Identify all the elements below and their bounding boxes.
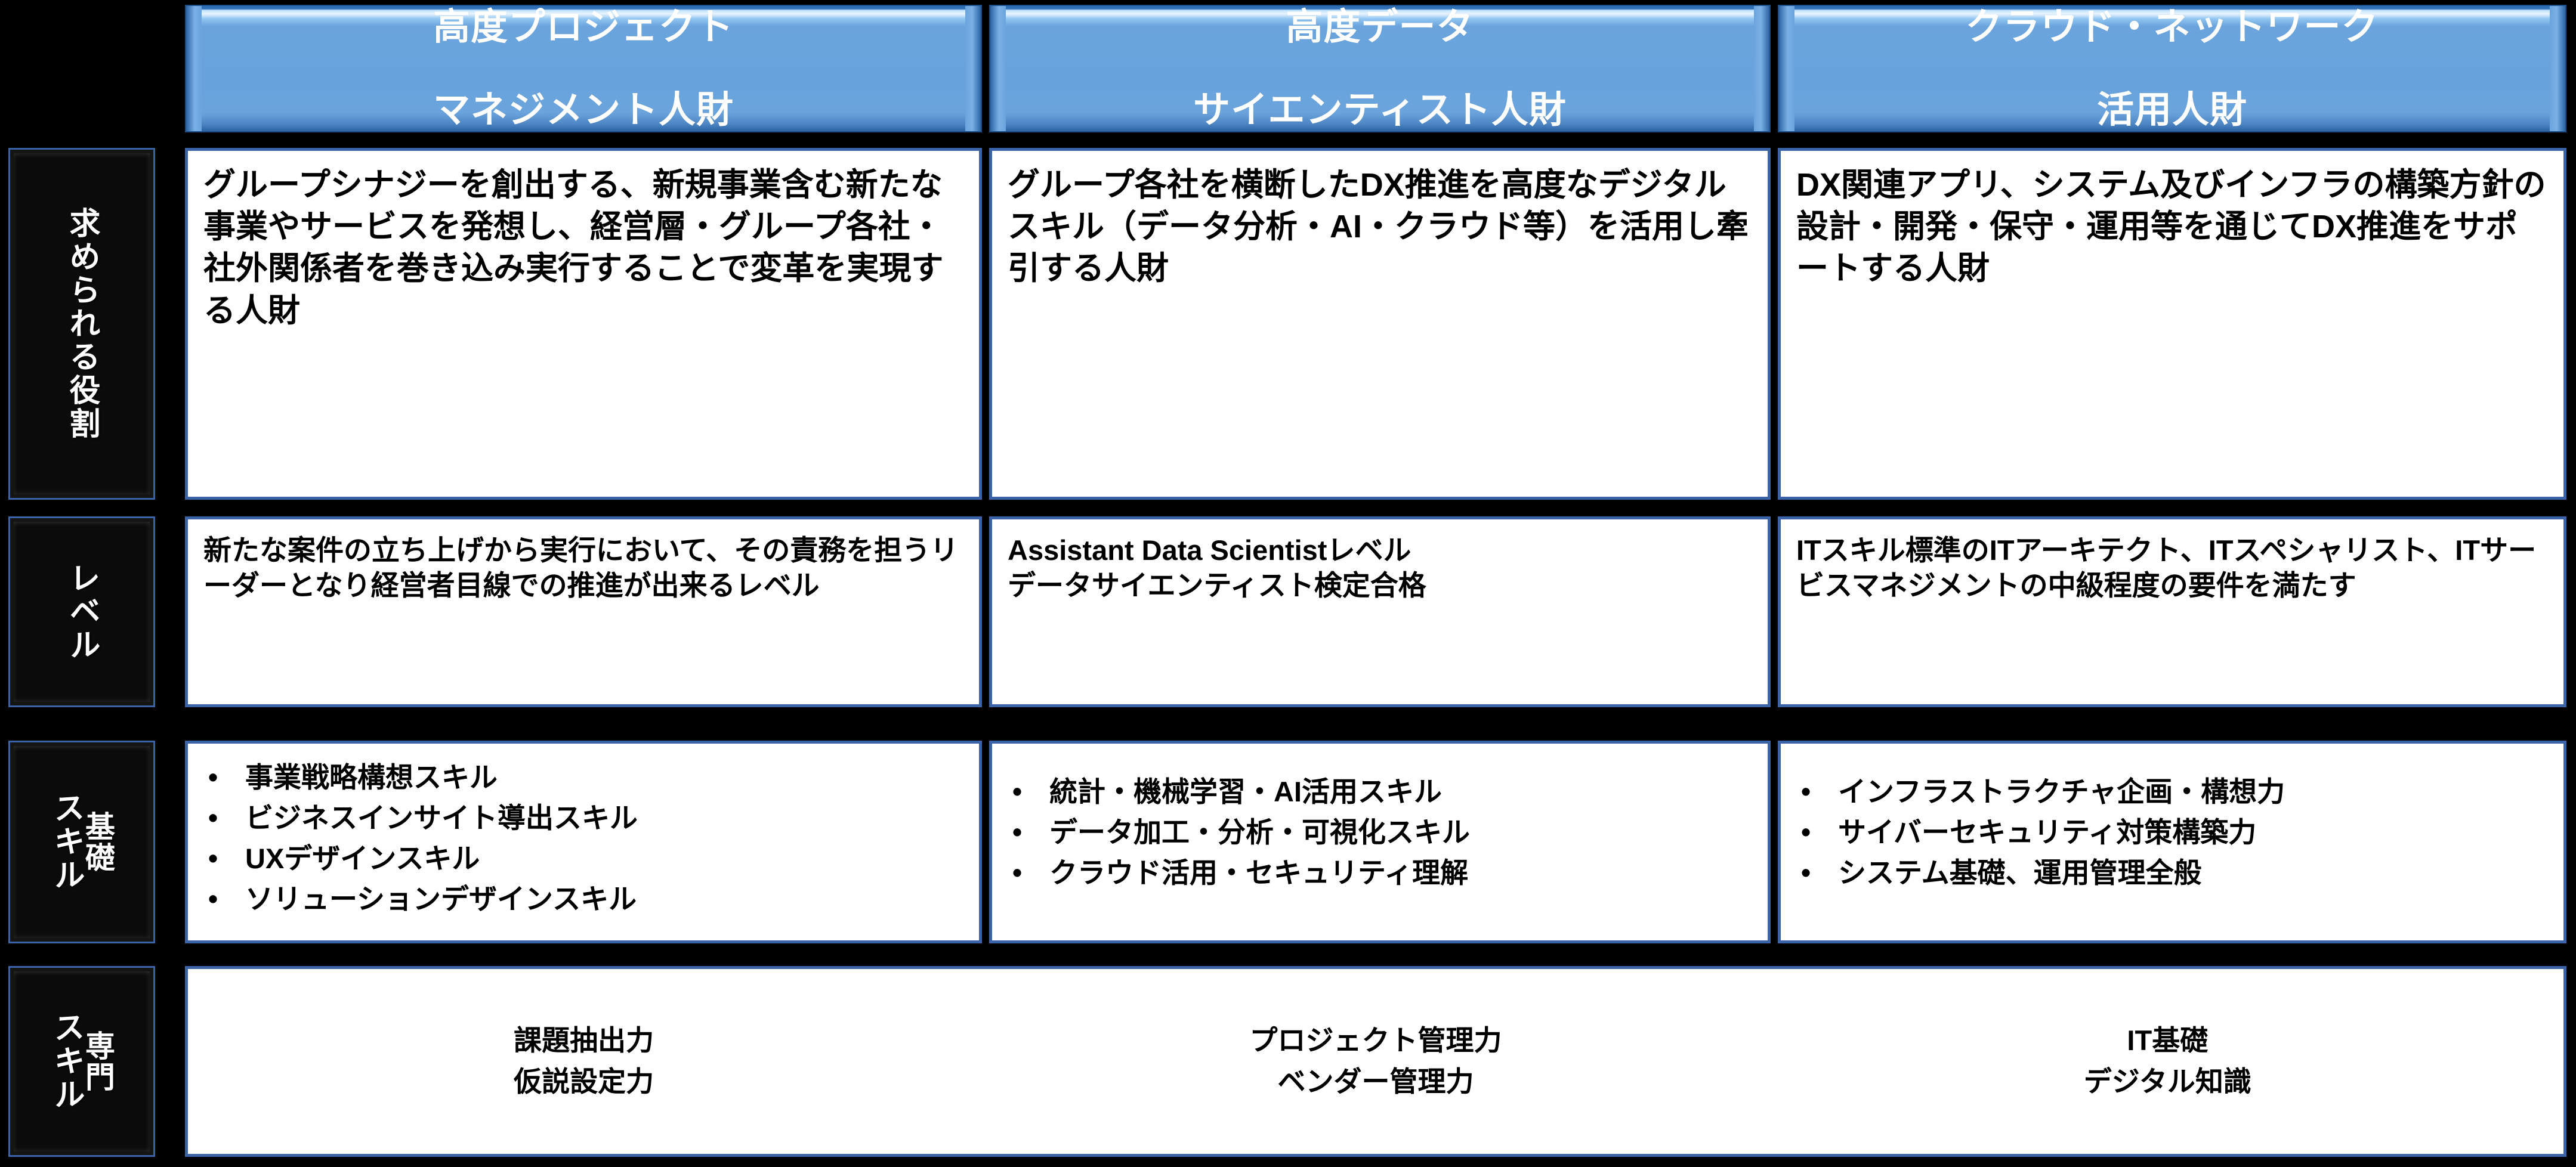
specialty-line-1: IT基礎 xyxy=(1772,1020,2563,1061)
list-item-label: インフラストラクチャ企画・構想力 xyxy=(1838,773,2552,810)
human-resource-matrix: 高度プロジェクト マネジメント人財 高度データ サイエンティスト人財 クラウド・… xyxy=(0,0,2576,1167)
list-item-label: UXデザインスキル xyxy=(245,840,967,877)
list-item: • ビジネスインサイト導出スキル xyxy=(208,800,967,837)
row-label-specialty-skill: 専門 スキル xyxy=(8,966,155,1157)
specialty-line-1: プロジェクト管理力 xyxy=(980,1020,1771,1061)
bullet-icon: • xyxy=(208,881,245,917)
bullet-icon: • xyxy=(1801,855,1838,891)
list-item-label: システム基礎、運用管理全般 xyxy=(1838,855,2552,891)
row-label-level: レベル xyxy=(8,516,155,707)
list-item: • クラウド活用・セキュリティ理解 xyxy=(1012,855,1756,891)
list-item-label: ビジネスインサイト導出スキル xyxy=(245,800,967,837)
bullet-icon: • xyxy=(208,800,245,836)
row-label-sub-text: 基礎 xyxy=(83,811,113,873)
bullet-icon: • xyxy=(1801,814,1838,850)
cell-role-cloud-network: DX関連アプリ、システム及びインフラの構築方針の設計・開発・保守・運用等を通じて… xyxy=(1778,148,2566,500)
row-label-required-role: 求められる役割 xyxy=(8,148,155,500)
column-header-line2: 活用人財 xyxy=(1965,89,2379,131)
cell-level-project-management: 新たな案件の立ち上げから実行において、その責務を担うリーダーとなり経営者目線での… xyxy=(185,516,982,707)
cell-level-data-scientist: Assistant Data Scientistレベル データサイエンティスト検… xyxy=(989,516,1771,707)
column-header-line1: クラウド・ネットワーク xyxy=(1965,7,2379,48)
cell-level-cloud-network: ITスキル標準のITアーキテクト、ITスペシャリスト、ITサービスマネジメントの… xyxy=(1778,516,2566,707)
level-line-1: Assistant Data Scientistレベル xyxy=(1008,533,1752,568)
cell-basic-skill-cloud-network: • インフラストラクチャ企画・構想力 • サイバーセキュリティ対策構築力 • シ… xyxy=(1778,741,2566,943)
column-header-data-scientist: 高度データ サイエンティスト人財 xyxy=(989,5,1771,132)
specialty-skill-project-management: 課題抽出力 仮説設定力 xyxy=(188,1020,980,1102)
row-label-text: レベル xyxy=(66,561,97,663)
list-item-label: 事業戦略構想スキル xyxy=(245,759,967,796)
bullet-icon: • xyxy=(208,840,245,877)
cell-role-project-management: グループシナジーを創出する、新規事業含む新たな事業やサービスを発想し、経営層・グ… xyxy=(185,148,982,500)
row-label-text: 求められる役割 xyxy=(66,207,97,441)
bullet-icon: • xyxy=(1012,855,1049,891)
list-item: • UXデザインスキル xyxy=(208,840,967,877)
specialty-line-2: デジタル知識 xyxy=(1772,1061,2563,1103)
bullet-icon: • xyxy=(1801,773,1838,810)
row-label-sub-text: 専門 xyxy=(83,1030,113,1092)
specialty-line-1: 課題抽出力 xyxy=(188,1020,980,1061)
cell-specialty-skill-row: 課題抽出力 仮説設定力 プロジェクト管理力 ベンダー管理力 IT基礎 デジタル知… xyxy=(185,966,2566,1157)
list-item: • 統計・機械学習・AI活用スキル xyxy=(1012,773,1756,810)
cell-basic-skill-data-scientist: • 統計・機械学習・AI活用スキル • データ加工・分析・可視化スキル • クラ… xyxy=(989,741,1771,943)
row-label-text: スキル xyxy=(51,1010,82,1113)
column-header-cloud-network: クラウド・ネットワーク 活用人財 xyxy=(1778,5,2566,132)
list-item: • サイバーセキュリティ対策構築力 xyxy=(1801,814,2552,851)
column-header-line2: サイエンティスト人財 xyxy=(1193,89,1567,131)
list-item-label: サイバーセキュリティ対策構築力 xyxy=(1838,814,2552,851)
row-label-text: スキル xyxy=(51,791,82,893)
bullet-icon: • xyxy=(1012,814,1049,850)
list-item: • ソリューションデザインスキル xyxy=(208,881,967,918)
bullet-icon: • xyxy=(208,759,245,795)
cell-role-data-scientist: グループ各社を横断したDX推進を高度なデジタルスキル（データ分析・AI・クラウド… xyxy=(989,148,1771,500)
list-item-label: クラウド活用・セキュリティ理解 xyxy=(1049,855,1756,891)
column-header-line1: 高度プロジェクト xyxy=(433,7,734,48)
bullet-icon: • xyxy=(1012,773,1049,810)
column-header-project-management: 高度プロジェクト マネジメント人財 xyxy=(185,5,982,132)
list-item-label: 統計・機械学習・AI活用スキル xyxy=(1049,773,1756,810)
row-label-basic-skill: 基礎 スキル xyxy=(8,741,155,943)
level-line-2: データサイエンティスト検定合格 xyxy=(1008,568,1752,603)
list-item: • 事業戦略構想スキル xyxy=(208,759,967,796)
list-item: • インフラストラクチャ企画・構想力 xyxy=(1801,773,2552,810)
column-header-line1: 高度データ xyxy=(1193,7,1567,48)
cell-basic-skill-project-management: • 事業戦略構想スキル • ビジネスインサイト導出スキル • UXデザインスキル… xyxy=(185,741,982,943)
list-item: • システム基礎、運用管理全般 xyxy=(1801,855,2552,891)
specialty-line-2: ベンダー管理力 xyxy=(980,1061,1771,1103)
list-item-label: ソリューションデザインスキル xyxy=(245,881,967,918)
list-item-label: データ加工・分析・可視化スキル xyxy=(1049,814,1756,851)
specialty-skill-cloud-network: IT基礎 デジタル知識 xyxy=(1772,1020,2563,1102)
specialty-skill-data-scientist: プロジェクト管理力 ベンダー管理力 xyxy=(980,1020,1771,1102)
specialty-line-2: 仮説設定力 xyxy=(188,1061,980,1103)
column-header-line2: マネジメント人財 xyxy=(433,89,734,131)
list-item: • データ加工・分析・可視化スキル xyxy=(1012,814,1756,851)
